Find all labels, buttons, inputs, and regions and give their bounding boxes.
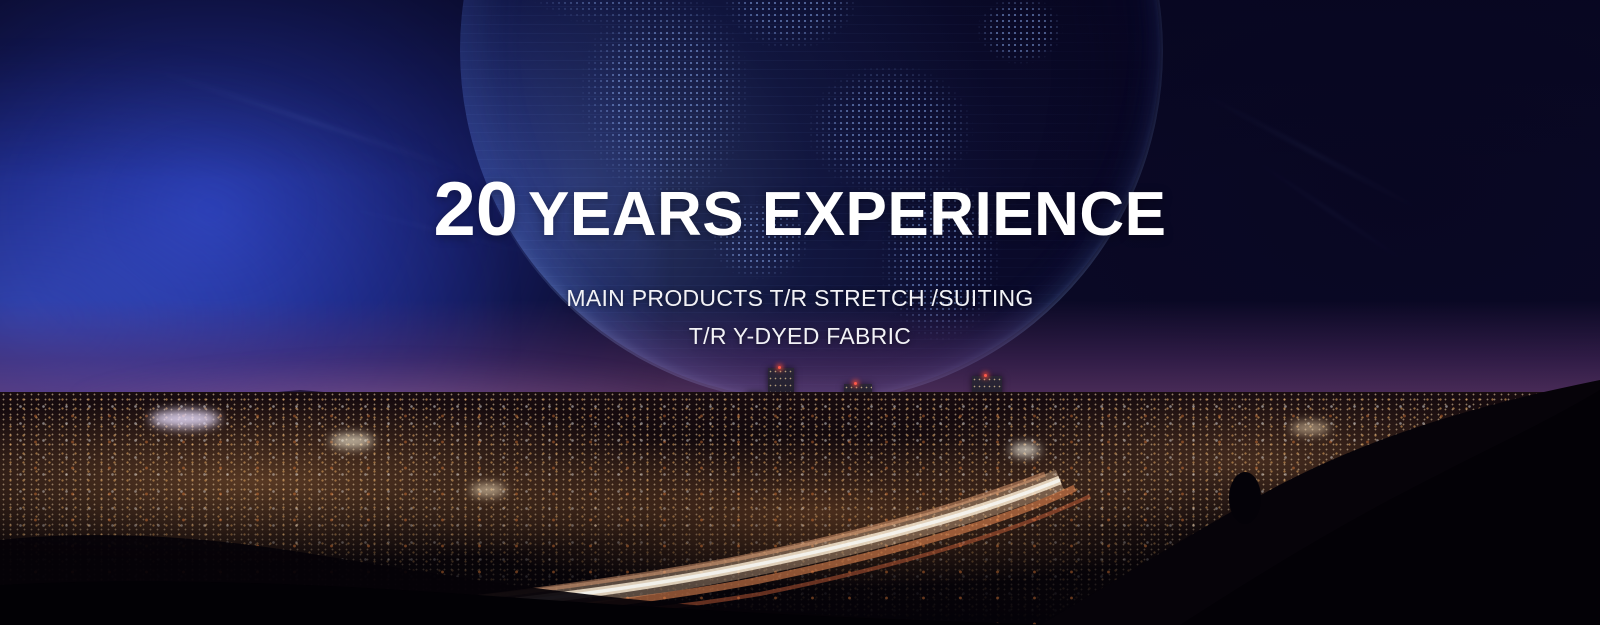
foreground-hillside-silhouette — [0, 380, 1600, 625]
headline-number: 20 — [433, 167, 518, 252]
subtitle-line-2: T/R Y-DYED FABRIC — [0, 323, 1600, 350]
headline-words: YEARS EXPERIENCE — [528, 180, 1167, 249]
hero-banner: 20YEARS EXPERIENCE MAIN PRODUCTS T/R STR… — [0, 0, 1600, 625]
page-title: 20YEARS EXPERIENCE — [0, 172, 1600, 248]
light-streak — [158, 71, 463, 172]
subtitle-line-1: MAIN PRODUCTS T/R STRETCH /SUITING — [0, 285, 1600, 312]
